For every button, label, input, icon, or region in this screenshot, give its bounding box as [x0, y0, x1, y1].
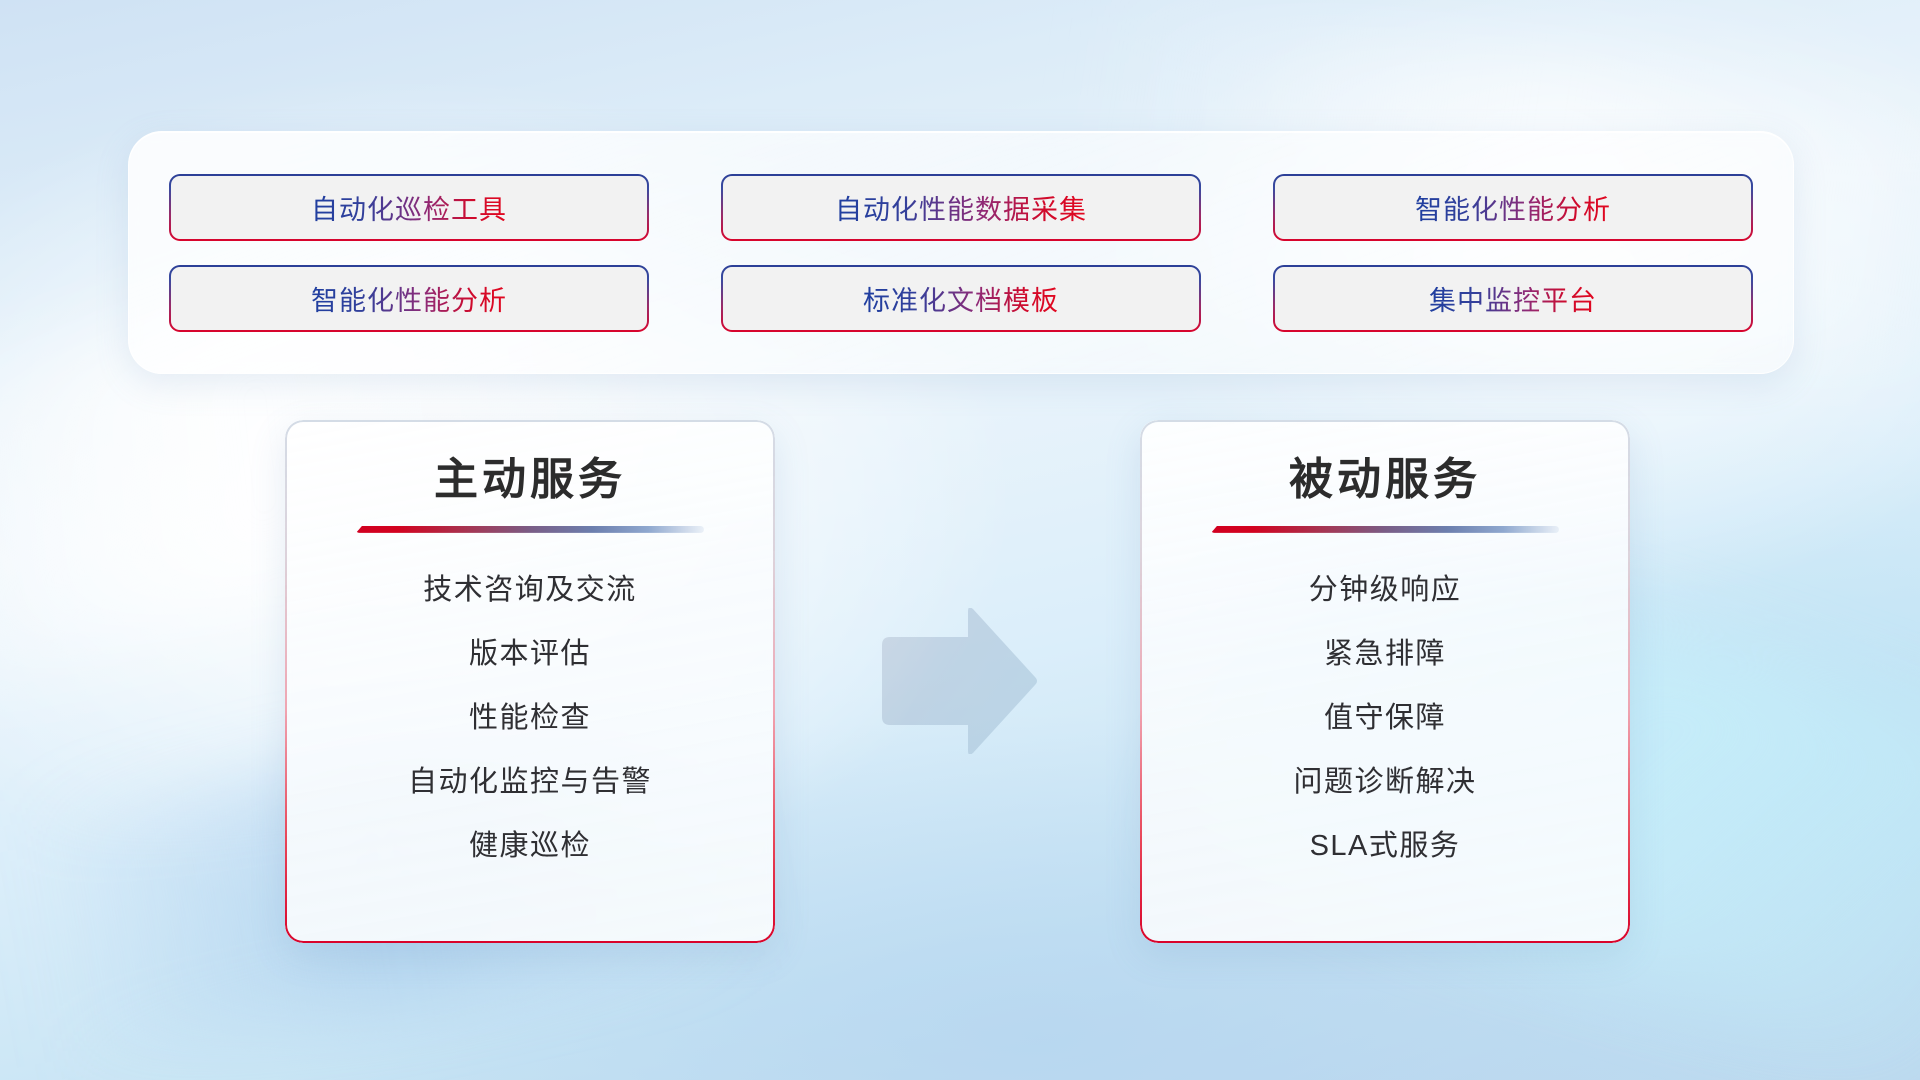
proactive-service-card: 主动服务 技术咨询及交流 版本评估 性能检查 自动化监控与告警 健康巡检	[285, 420, 775, 943]
list-item: 健康巡检	[469, 827, 591, 866]
reactive-service-list: 分钟级响应 紧急排障 值守保障 问题诊断解决 SLA式服务	[1174, 571, 1596, 867]
list-item: 技术咨询及交流	[423, 571, 637, 610]
card-title: 被动服务	[1289, 454, 1481, 506]
card-divider	[1211, 526, 1559, 533]
reactive-service-card: 被动服务 分钟级响应 紧急排障 值守保障 问题诊断解决 SLA式服务	[1140, 420, 1630, 943]
slide-canvas: 自动化巡检工具 自动化性能数据采集 智能化性能分析 智能化性能分析 标准化文档模…	[0, 0, 1920, 1080]
capability-tags-panel: 自动化巡检工具 自动化性能数据采集 智能化性能分析 智能化性能分析 标准化文档模…	[128, 131, 1794, 374]
capability-tags-row-1: 自动化巡检工具 自动化性能数据采集 智能化性能分析	[169, 174, 1753, 241]
card-title: 主动服务	[434, 454, 626, 506]
capability-tag-label: 智能化性能分析	[1415, 188, 1611, 227]
list-item: 问题诊断解决	[1293, 763, 1476, 802]
list-item: 版本评估	[469, 635, 591, 674]
capability-tag-label: 自动化性能数据采集	[835, 188, 1087, 227]
capability-tag-automated-inspection-tool[interactable]: 自动化巡检工具	[169, 174, 649, 241]
capability-tag-label: 标准化文档模板	[863, 279, 1059, 318]
list-item: SLA式服务	[1310, 827, 1461, 866]
list-item: 紧急排障	[1324, 635, 1446, 674]
arrow-right-icon	[874, 608, 1038, 754]
list-item: 性能检查	[469, 699, 591, 738]
list-item: 自动化监控与告警	[408, 763, 652, 802]
capability-tag-centralized-monitoring-platform[interactable]: 集中监控平台	[1273, 265, 1753, 332]
capability-tag-label: 智能化性能分析	[311, 279, 507, 318]
capability-tags-row-2: 智能化性能分析 标准化文档模板 集中监控平台	[169, 265, 1753, 332]
capability-tag-intelligent-performance-analysis-2[interactable]: 智能化性能分析	[169, 265, 649, 332]
list-item: 分钟级响应	[1309, 571, 1462, 610]
capability-tag-label: 自动化巡检工具	[311, 188, 507, 227]
capability-tag-intelligent-performance-analysis[interactable]: 智能化性能分析	[1273, 174, 1753, 241]
capability-tag-automated-performance-data-collection[interactable]: 自动化性能数据采集	[721, 174, 1201, 241]
list-item: 值守保障	[1324, 699, 1446, 738]
proactive-service-list: 技术咨询及交流 版本评估 性能检查 自动化监控与告警 健康巡检	[319, 571, 741, 867]
capability-tag-standardized-document-template[interactable]: 标准化文档模板	[721, 265, 1201, 332]
card-divider	[356, 526, 704, 533]
capability-tag-label: 集中监控平台	[1429, 279, 1597, 318]
